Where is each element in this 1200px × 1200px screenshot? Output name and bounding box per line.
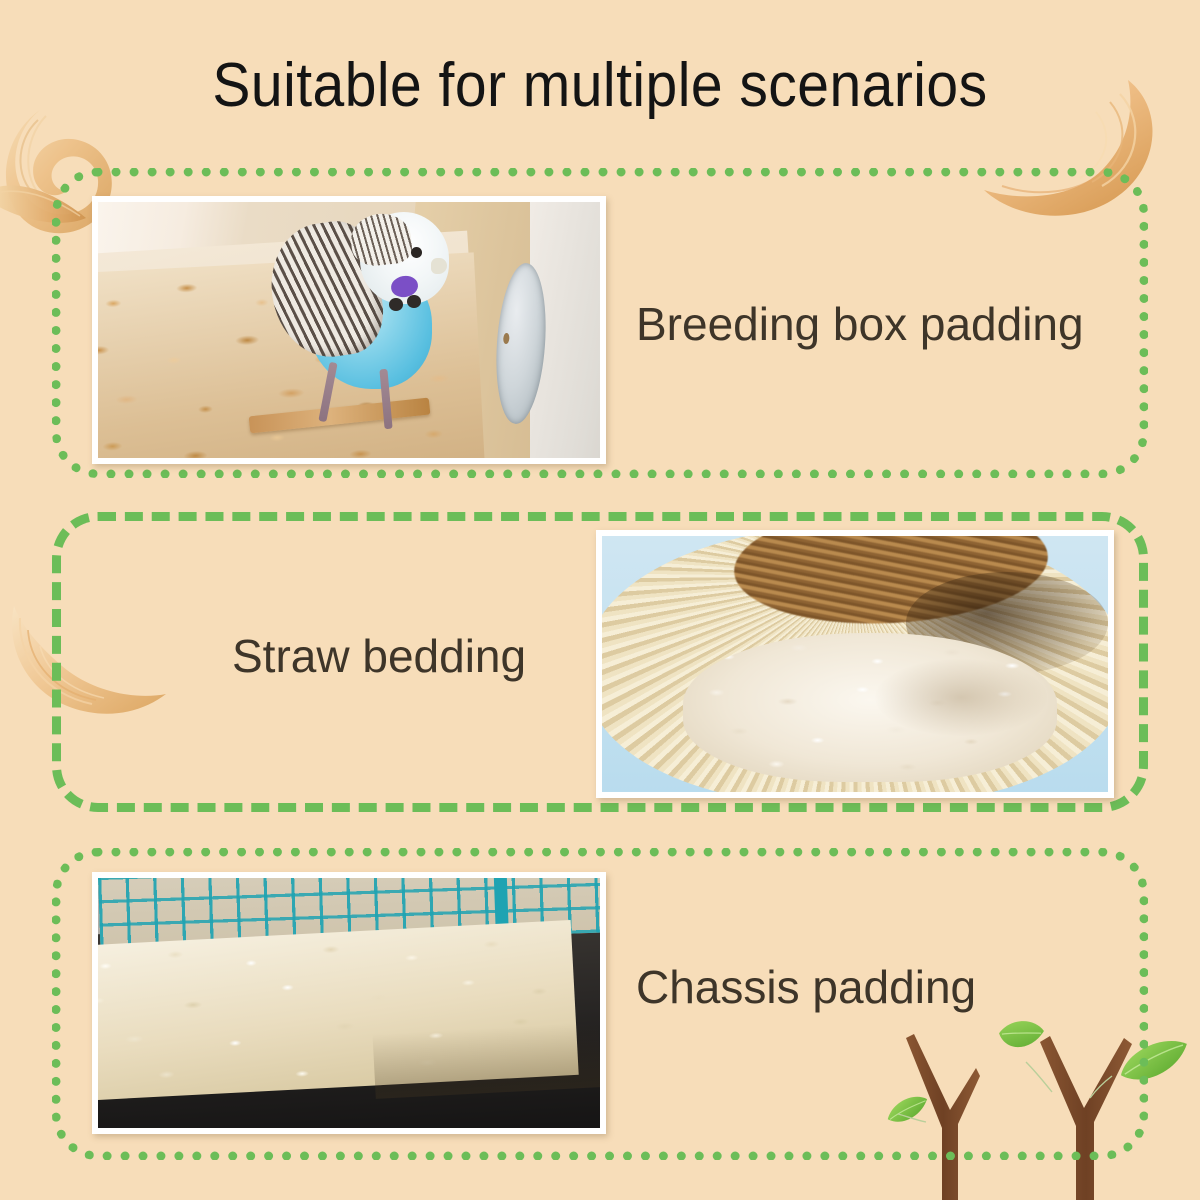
scenario-image-straw-bedding bbox=[596, 530, 1114, 798]
budgie-throat-spot bbox=[389, 298, 403, 311]
budgie-beak bbox=[431, 258, 447, 274]
infographic-page: Suitable for multiple scenarios bbox=[0, 0, 1200, 1200]
budgerigar bbox=[279, 210, 460, 440]
budgie-leg bbox=[318, 361, 337, 421]
budgie-throat-spot bbox=[407, 295, 421, 308]
breeding-box-photo-canvas bbox=[98, 202, 600, 458]
shaving-fill-shadow bbox=[875, 659, 1047, 736]
scenario-image-chassis-padding bbox=[92, 872, 606, 1134]
scenario-label-breeding-box: Breeding box padding bbox=[636, 297, 1084, 351]
page-title: Suitable for multiple scenarios bbox=[48, 50, 1152, 122]
scenario-label-straw-bedding: Straw bedding bbox=[232, 629, 526, 683]
bedding-shadow bbox=[373, 1022, 600, 1099]
chassis-padding-photo-canvas bbox=[98, 878, 600, 1128]
straw-bedding-photo-canvas bbox=[602, 536, 1108, 792]
scenario-label-chassis-padding: Chassis padding bbox=[636, 960, 976, 1014]
scenario-image-breeding-box bbox=[92, 196, 606, 464]
